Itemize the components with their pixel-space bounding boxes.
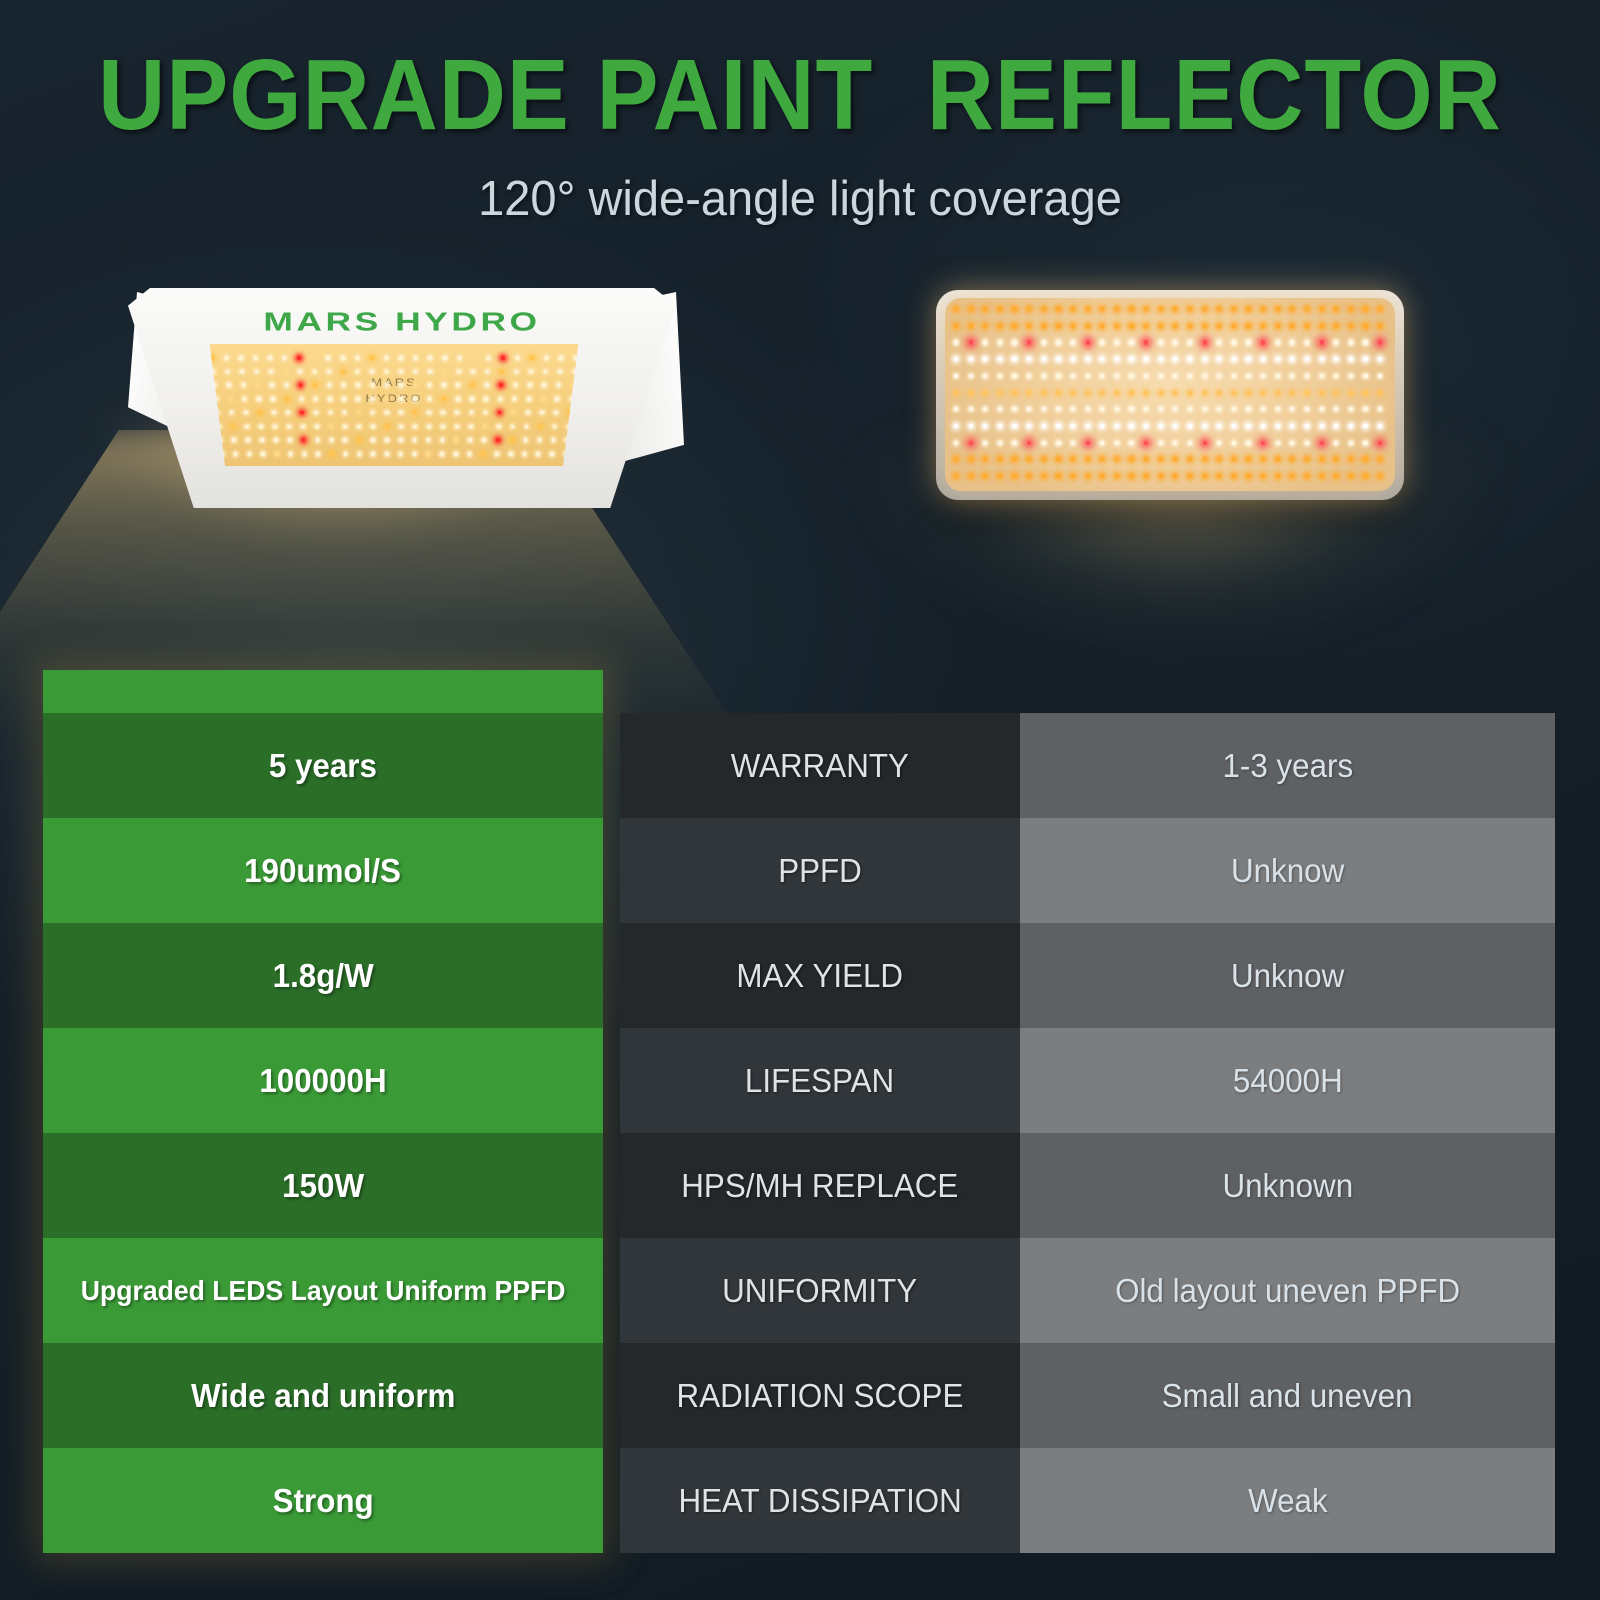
led-dot <box>1246 424 1250 428</box>
led-dot <box>358 452 362 456</box>
led-dot <box>483 425 487 429</box>
led-dot <box>1290 391 1294 395</box>
led-dot <box>1100 474 1104 478</box>
led-dot <box>1320 324 1324 328</box>
led-dot <box>232 438 236 442</box>
column-ours: 5 years190umol/S1.8g/W100000H150WUpgrade… <box>43 670 603 1553</box>
led-dot <box>1100 374 1104 378</box>
led-dot <box>983 457 987 461</box>
header: UPGRADE PAINT REFLECTOR 120° wide-angle … <box>0 0 1600 227</box>
led-dot <box>1261 457 1265 461</box>
led-dot <box>455 425 459 429</box>
led-dot <box>1276 374 1280 378</box>
led-dot <box>1349 324 1353 328</box>
led-dot <box>342 397 346 401</box>
led-dot <box>468 438 472 442</box>
comparison-table: 5 years190umol/S1.8g/W100000H150WUpgrade… <box>0 670 1600 1600</box>
led-dot <box>356 356 360 360</box>
led-dot <box>542 383 546 387</box>
led-dot <box>441 411 445 415</box>
led-dot <box>1056 407 1060 411</box>
led-dot <box>1042 307 1046 311</box>
product-image-upgraded-reflector: MARS HYDRO MARS HYDRO <box>128 288 676 508</box>
led-dot <box>1246 374 1250 378</box>
led-dot <box>1042 457 1046 461</box>
led-dot <box>1378 357 1382 361</box>
led-dot <box>1129 340 1133 344</box>
led-dot <box>344 452 348 456</box>
led-dot <box>1042 357 1046 361</box>
led-dot <box>499 397 503 401</box>
led-dot <box>301 425 305 429</box>
led-dot <box>1188 324 1192 328</box>
led-dot <box>1378 424 1382 428</box>
led-dot <box>1129 357 1133 361</box>
led-dot <box>969 424 973 428</box>
led-dot <box>1261 307 1265 311</box>
led-dot <box>326 356 330 360</box>
cell-ours-value: Wide and uniform <box>191 1377 455 1415</box>
led-dot <box>468 452 472 456</box>
led-dot <box>1203 340 1207 344</box>
led-dot <box>954 474 958 478</box>
led-dot <box>245 425 249 429</box>
led-dot <box>413 411 417 415</box>
led-dot <box>1217 374 1221 378</box>
column-theirs: 1-3 yearsUnknowUnknow54000HUnknownOld la… <box>1020 713 1555 1553</box>
led-dot <box>1290 340 1294 344</box>
led-dot <box>1086 474 1090 478</box>
led-dot <box>1246 391 1250 395</box>
led-dot <box>1071 307 1075 311</box>
led-dot <box>1217 357 1221 361</box>
led-dot <box>954 457 958 461</box>
led-dot <box>1363 424 1367 428</box>
cell-spec-label: RADIATION SCOPE <box>677 1377 964 1415</box>
led-dot <box>427 411 431 415</box>
led-dot <box>1115 357 1119 361</box>
led-dot <box>1159 324 1163 328</box>
led-dot <box>1144 457 1148 461</box>
led-dot <box>385 452 389 456</box>
led-dot <box>554 411 558 415</box>
led-dot <box>954 324 958 328</box>
led-dot <box>1378 307 1382 311</box>
led-dot <box>969 407 973 411</box>
cell-theirs-value: Unknow <box>1231 852 1344 890</box>
led-dot <box>272 411 276 415</box>
led-dot <box>983 374 987 378</box>
led-dot <box>234 452 238 456</box>
led-dot <box>525 425 529 429</box>
led-dot <box>1115 441 1119 445</box>
led-dot <box>442 383 446 387</box>
led-dot <box>1203 374 1207 378</box>
led-dot <box>315 425 319 429</box>
led-dot <box>1320 357 1324 361</box>
led-dot <box>512 411 516 415</box>
led-dot <box>399 452 403 456</box>
led-dot <box>428 356 432 360</box>
led-dot <box>482 438 486 442</box>
led-dot <box>288 438 292 442</box>
led-dot <box>1144 357 1148 361</box>
led-dot <box>1115 324 1119 328</box>
led-dot <box>300 397 304 401</box>
led-dot <box>1173 307 1177 311</box>
led-dot <box>1305 340 1309 344</box>
led-dot <box>385 370 389 374</box>
led-dot <box>1305 457 1309 461</box>
led-dot <box>1115 374 1119 378</box>
led-dot <box>1232 474 1236 478</box>
led-dot <box>1290 374 1294 378</box>
led-dot <box>371 411 375 415</box>
led-dot <box>229 397 233 401</box>
led-dot <box>470 397 474 401</box>
led-dot <box>1173 457 1177 461</box>
led-dot <box>1378 441 1382 445</box>
led-dot <box>357 411 361 415</box>
led-dot <box>1203 307 1207 311</box>
led-dot <box>1086 324 1090 328</box>
led-dot <box>1173 340 1177 344</box>
led-dot <box>1320 441 1324 445</box>
led-dot <box>1188 424 1192 428</box>
led-dot <box>1320 457 1324 461</box>
led-dot <box>1188 407 1192 411</box>
led-dot <box>969 324 973 328</box>
led-dot <box>1159 457 1163 461</box>
led-dot <box>341 356 345 360</box>
led-dot <box>497 425 501 429</box>
led-dot <box>1203 357 1207 361</box>
led-dot <box>302 438 306 442</box>
led-dot <box>1203 391 1207 395</box>
led-dot <box>983 474 987 478</box>
table-row: RADIATION SCOPE <box>620 1343 1020 1448</box>
table-row: Strong <box>43 1448 603 1553</box>
led-dot <box>536 452 540 456</box>
led-dot <box>541 397 545 401</box>
led-dot <box>454 452 458 456</box>
led-dot <box>1027 340 1031 344</box>
led-dot <box>983 441 987 445</box>
led-dot <box>1071 441 1075 445</box>
led-dot <box>313 383 317 387</box>
led-dot <box>1042 474 1046 478</box>
led-dot <box>1056 424 1060 428</box>
led-dot <box>553 425 557 429</box>
led-dot <box>969 391 973 395</box>
table-row: MAX YIELD <box>620 923 1020 1028</box>
led-dot <box>1129 391 1133 395</box>
led-dot <box>243 397 247 401</box>
led-dot <box>1349 307 1353 311</box>
led-dot <box>545 356 549 360</box>
led-dot <box>314 411 318 415</box>
led-dot <box>1129 441 1133 445</box>
cell-ours-value: 100000H <box>259 1062 386 1100</box>
led-dot <box>300 411 304 415</box>
led-dot <box>283 356 287 360</box>
cell-theirs-value: Old layout uneven PPFD <box>1115 1272 1460 1310</box>
led-dot <box>1144 374 1148 378</box>
led-dot <box>1203 457 1207 461</box>
led-dot <box>240 370 244 374</box>
led-dot <box>1246 307 1250 311</box>
led-dot <box>509 452 513 456</box>
led-dot <box>1086 457 1090 461</box>
led-dot <box>1173 441 1177 445</box>
led-dot <box>1100 407 1104 411</box>
led-dot <box>268 356 272 360</box>
table-row: Old layout uneven PPFD <box>1020 1238 1555 1343</box>
led-dot <box>550 452 554 456</box>
led-dot <box>371 452 375 456</box>
led-dot <box>297 356 301 360</box>
led-dot <box>1086 391 1090 395</box>
led-dot <box>1159 407 1163 411</box>
led-dot <box>258 411 262 415</box>
led-dot <box>246 438 250 442</box>
led-dot <box>954 307 958 311</box>
led-dot <box>501 356 505 360</box>
led-dot <box>356 370 360 374</box>
led-dot <box>1320 474 1324 478</box>
led-dot <box>1042 407 1046 411</box>
column-spec: WARRANTYPPFDMAX YIELDLIFESPANHPS/MH REPL… <box>620 713 1020 1553</box>
table-row: 1.8g/W <box>43 923 603 1028</box>
table-row: Unknow <box>1020 818 1555 923</box>
led-dot <box>1261 357 1265 361</box>
led-dot <box>1261 424 1265 428</box>
led-dot <box>1232 457 1236 461</box>
led-dot <box>1217 324 1221 328</box>
led-dot <box>1320 374 1324 378</box>
led-dot <box>1056 340 1060 344</box>
led-dot <box>1159 474 1163 478</box>
led-dot <box>527 397 531 401</box>
led-dot <box>1305 391 1309 395</box>
led-dot <box>270 383 274 387</box>
led-dot <box>1071 457 1075 461</box>
cell-ours-value: 5 years <box>269 747 377 785</box>
led-dot <box>559 356 563 360</box>
led-dot <box>298 370 302 374</box>
led-dot <box>1378 340 1382 344</box>
led-dot <box>469 425 473 429</box>
led-board-right <box>945 298 1395 491</box>
led-dot <box>998 357 1002 361</box>
led-dot <box>269 370 273 374</box>
led-dot <box>1159 374 1163 378</box>
led-dot <box>1261 340 1265 344</box>
led-dot <box>1027 307 1031 311</box>
led-dot <box>1012 324 1016 328</box>
led-dot <box>471 383 475 387</box>
led-dot <box>1363 441 1367 445</box>
led-dot <box>983 324 987 328</box>
led-dot <box>484 411 488 415</box>
led-dot <box>500 370 504 374</box>
led-dot <box>1173 357 1177 361</box>
led-dot <box>1217 474 1221 478</box>
table-row: Upgraded LEDS Layout Uniform PPFD <box>43 1238 603 1343</box>
led-dot <box>1349 374 1353 378</box>
led-dot <box>1378 474 1382 478</box>
led-dot <box>1349 357 1353 361</box>
cell-spec-label: HPS/MH REPLACE <box>681 1167 958 1205</box>
led-dot <box>1086 374 1090 378</box>
led-dot <box>1334 340 1338 344</box>
led-dot <box>1363 407 1367 411</box>
led-dot <box>1100 307 1104 311</box>
led-dot <box>443 370 447 374</box>
led-dot <box>440 452 444 456</box>
table-row: Small and uneven <box>1020 1343 1555 1448</box>
led-dot <box>983 357 987 361</box>
led-dot <box>259 425 263 429</box>
led-dot <box>514 383 518 387</box>
led-dot <box>1363 374 1367 378</box>
led-dot <box>399 438 403 442</box>
led-dot <box>1056 307 1060 311</box>
cell-spec-label: WARRANTY <box>731 747 909 785</box>
led-dot <box>1071 324 1075 328</box>
led-dot <box>1173 374 1177 378</box>
led-dot <box>1056 357 1060 361</box>
led-dot <box>1027 407 1031 411</box>
led-dot <box>1217 307 1221 311</box>
led-dot <box>998 457 1002 461</box>
led-dot <box>1276 441 1280 445</box>
led-dot <box>1217 441 1221 445</box>
led-dot <box>487 356 491 360</box>
led-dot <box>1129 307 1133 311</box>
led-dot <box>454 438 458 442</box>
led-dot <box>1159 441 1163 445</box>
led-dot <box>330 438 334 442</box>
led-dot <box>385 411 389 415</box>
led-dot <box>1320 391 1324 395</box>
led-dot <box>1086 407 1090 411</box>
led-dot <box>1261 407 1265 411</box>
led-dot <box>1232 357 1236 361</box>
board-brand-text: MARS HYDRO <box>366 375 423 407</box>
led-dot <box>544 370 548 374</box>
led-dot <box>1115 474 1119 478</box>
led-dot <box>1144 407 1148 411</box>
table-row: 54000H <box>1020 1028 1555 1133</box>
led-dot <box>496 438 500 442</box>
led-dot <box>1115 457 1119 461</box>
led-dot <box>1115 340 1119 344</box>
led-dot <box>969 307 973 311</box>
led-dot <box>1305 407 1309 411</box>
led-dot <box>530 356 534 360</box>
led-dot <box>255 370 259 374</box>
brand-logo-mars-hydro: MARS HYDRO <box>79 308 726 337</box>
led-dot <box>1056 391 1060 395</box>
led-dot <box>285 383 289 387</box>
led-dot <box>399 383 403 387</box>
led-dot <box>1173 391 1177 395</box>
led-dot <box>513 397 517 401</box>
led-dot <box>316 438 320 442</box>
led-dot <box>524 438 528 442</box>
led-dot <box>1012 374 1016 378</box>
led-dot <box>969 441 973 445</box>
led-dot <box>484 397 488 401</box>
led-dot <box>343 438 347 442</box>
table-row: UNIFORMITY <box>620 1238 1020 1343</box>
led-dot <box>1203 324 1207 328</box>
led-dot <box>1056 457 1060 461</box>
led-dot <box>1261 441 1265 445</box>
led-dot <box>399 425 403 429</box>
product-image-old-flat-panel <box>936 290 1404 500</box>
led-dot <box>539 425 543 429</box>
led-dot <box>495 452 499 456</box>
led-dot <box>1012 391 1016 395</box>
led-dot <box>456 383 460 387</box>
led-dot <box>954 340 958 344</box>
led-dot <box>1144 340 1148 344</box>
led-dot <box>248 452 252 456</box>
led-dot <box>528 383 532 387</box>
led-dot <box>1261 374 1265 378</box>
cell-ours-value: Strong <box>272 1482 373 1520</box>
led-dot <box>969 357 973 361</box>
led-dot <box>983 391 987 395</box>
led-dot <box>231 425 235 429</box>
led-dot <box>414 356 418 360</box>
cell-spec-label: PPFD <box>778 852 862 890</box>
table-row: 5 years <box>43 713 603 818</box>
led-dot <box>1349 474 1353 478</box>
led-dot <box>1334 407 1338 411</box>
led-dot <box>284 370 288 374</box>
led-dot <box>1027 441 1031 445</box>
led-dot <box>1378 391 1382 395</box>
led-dot <box>1276 340 1280 344</box>
led-dot <box>399 411 403 415</box>
led-dot <box>1027 474 1031 478</box>
led-dot <box>1159 357 1163 361</box>
led-dot <box>969 474 973 478</box>
led-dot <box>998 391 1002 395</box>
led-dot <box>1144 307 1148 311</box>
led-dot <box>1246 441 1250 445</box>
led-dot <box>954 441 958 445</box>
led-dot <box>1363 324 1367 328</box>
led-dot <box>1320 307 1324 311</box>
led-dot <box>343 425 347 429</box>
cell-spec-label: HEAT DISSIPATION <box>678 1482 961 1520</box>
led-dot <box>998 374 1002 378</box>
led-dot <box>1305 357 1309 361</box>
led-dot <box>1305 324 1309 328</box>
led-dot <box>1144 441 1148 445</box>
led-dot <box>1203 407 1207 411</box>
led-dot <box>316 452 320 456</box>
led-dot <box>1173 474 1177 478</box>
led-dot <box>1056 474 1060 478</box>
led-dot <box>1071 357 1075 361</box>
led-dot <box>313 370 317 374</box>
led-dot <box>481 452 485 456</box>
